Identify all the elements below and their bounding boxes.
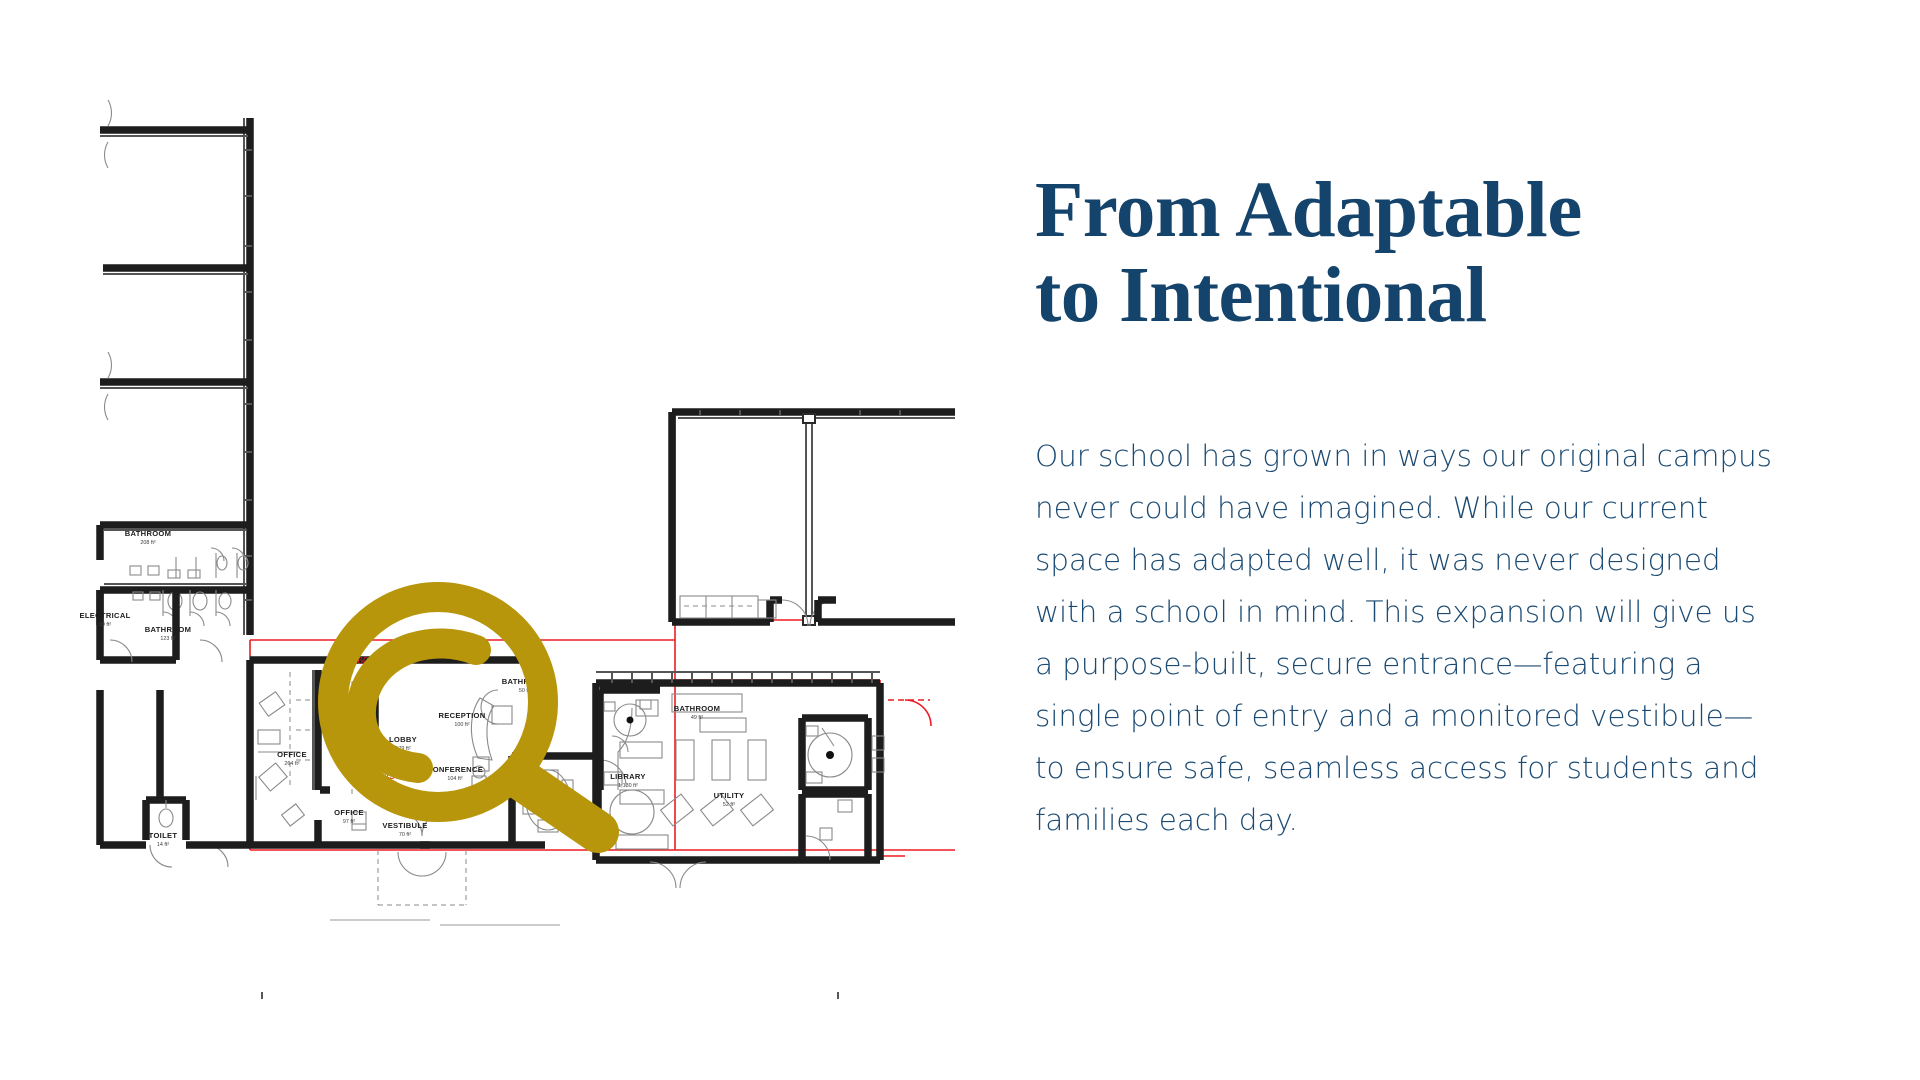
page-title: From Adaptable to Intentional [1035, 168, 1815, 339]
svg-text:BATHROOM: BATHROOM [125, 529, 172, 538]
body-paragraph: Our school has grown in ways our origina… [1035, 430, 1780, 846]
svg-text:TOILET: TOILET [149, 831, 178, 840]
svg-text:208 ft²: 208 ft² [140, 540, 155, 546]
text-panel: From Adaptable to Intentional Our school… [1035, 0, 1795, 1080]
svg-text:52 ft²: 52 ft² [723, 802, 735, 808]
svg-text:264 ft²: 264 ft² [284, 761, 299, 767]
magnifying-glass-icon [310, 580, 650, 870]
presentation-slide: .w { stroke:#2b2b2b; stroke-width:5; fil… [0, 0, 1920, 1080]
svg-text:14 ft²: 14 ft² [157, 842, 169, 848]
svg-text:BATHROOM: BATHROOM [145, 625, 192, 634]
svg-text:ELECTRICAL: ELECTRICAL [79, 611, 130, 620]
svg-text:BATHROOM: BATHROOM [674, 704, 721, 713]
svg-text:49 ft²: 49 ft² [691, 715, 703, 721]
floorplan-image: .w { stroke:#2b2b2b; stroke-width:5; fil… [0, 0, 955, 1080]
svg-text:99 ft²: 99 ft² [99, 622, 111, 628]
svg-text:123 ft²: 123 ft² [160, 636, 175, 642]
floorplan-drawing: .w { stroke:#2b2b2b; stroke-width:5; fil… [0, 0, 955, 1080]
svg-text:UTILITY: UTILITY [714, 791, 745, 800]
svg-text:OFFICE: OFFICE [277, 750, 307, 759]
